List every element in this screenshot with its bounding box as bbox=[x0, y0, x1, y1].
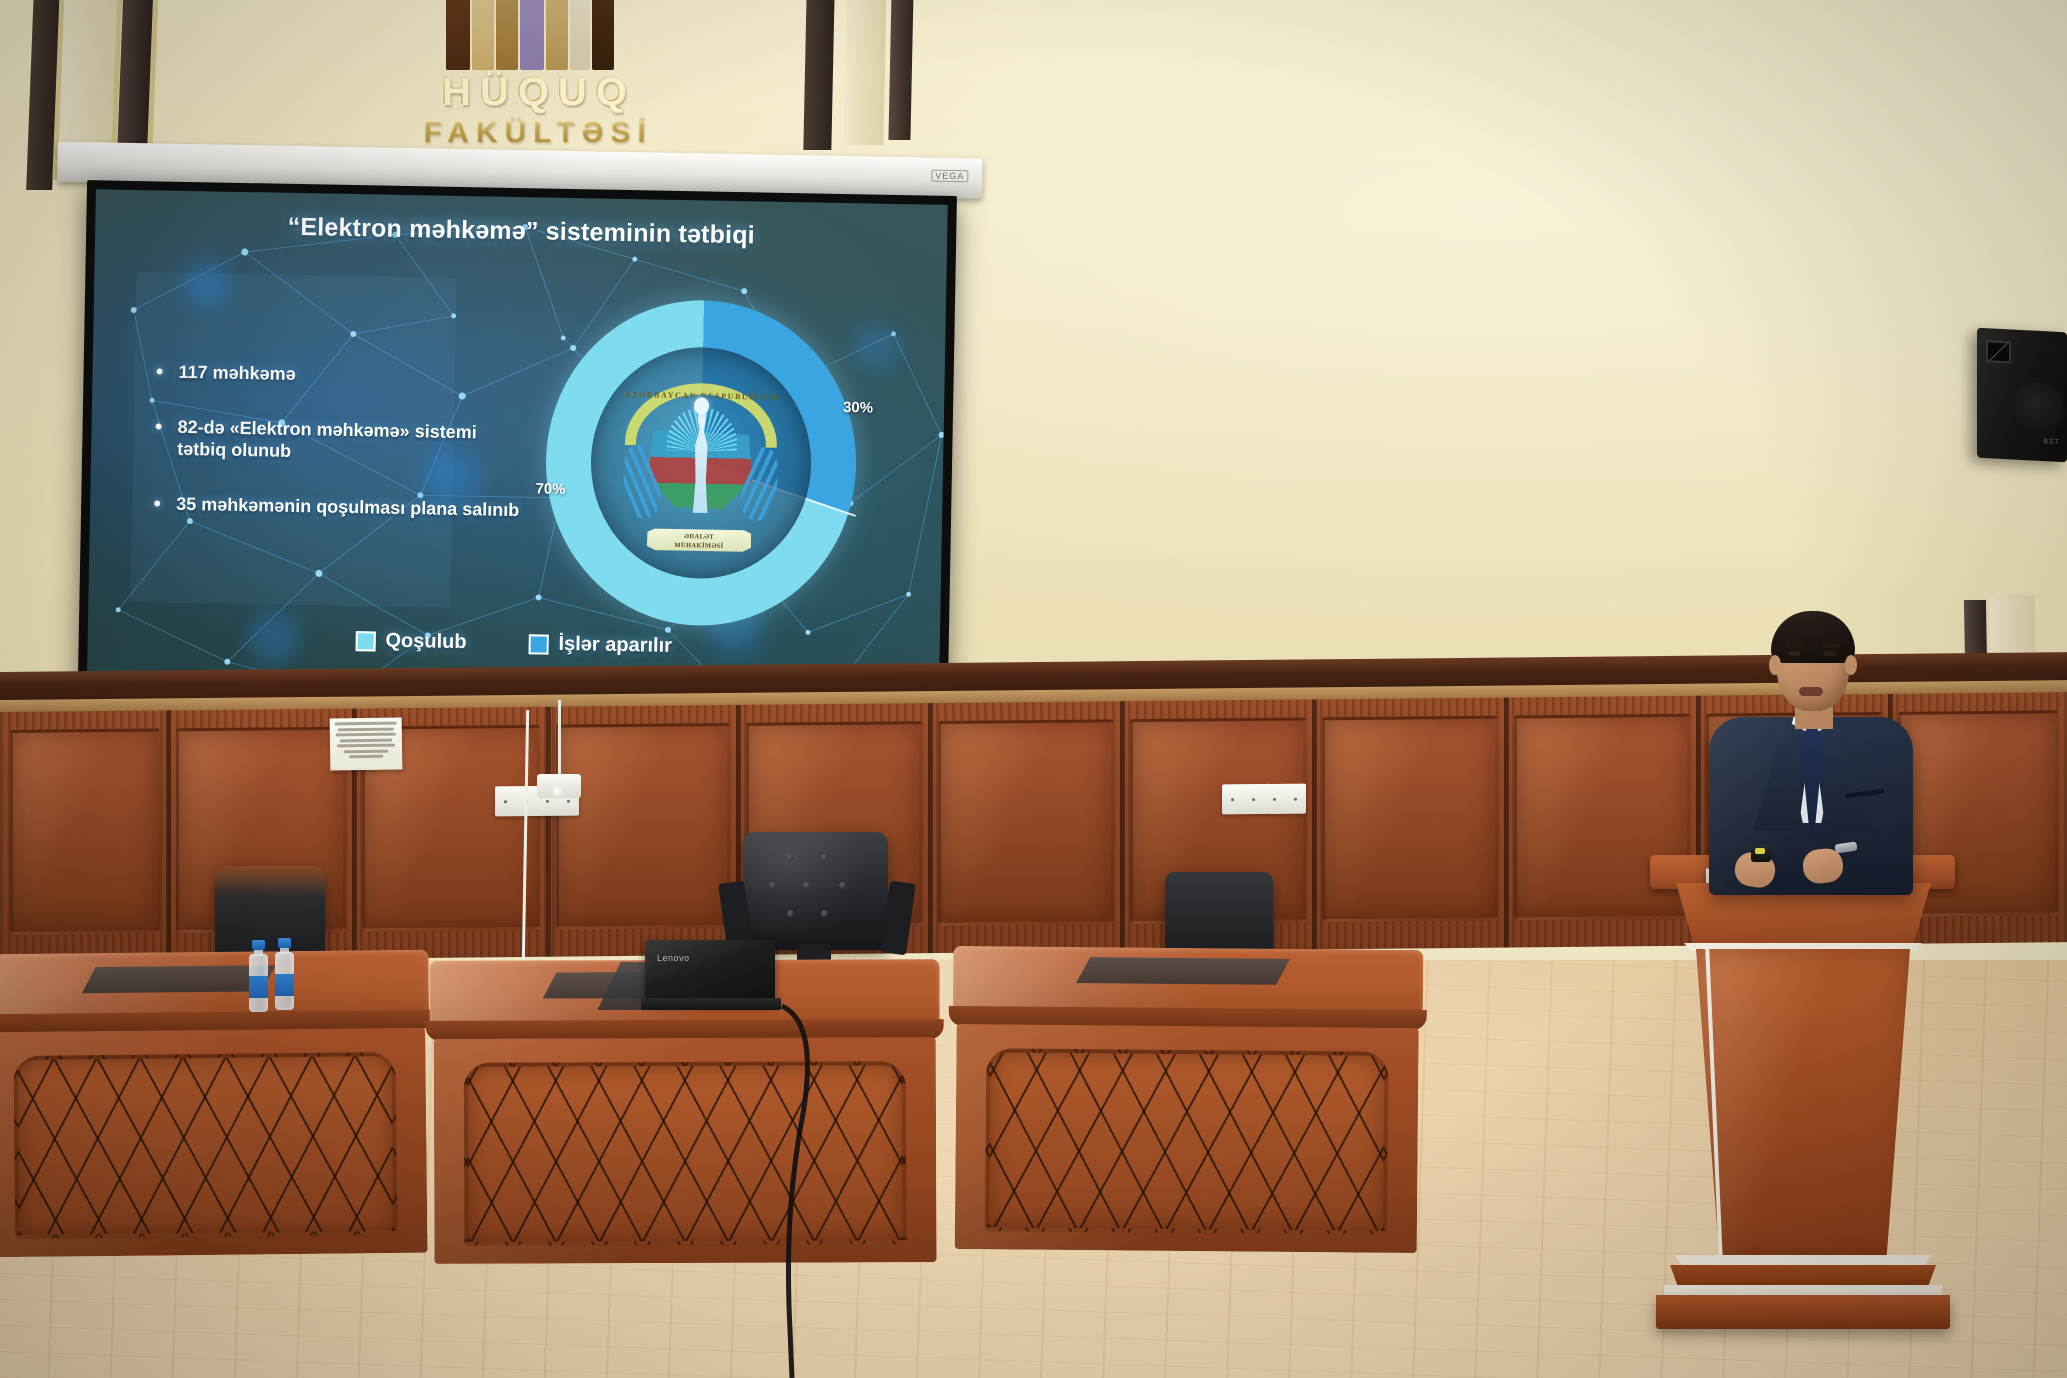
desk-center-front bbox=[434, 1037, 937, 1264]
wall-pilaster-dark-3 bbox=[803, 0, 834, 150]
legend-item-connected: Qoşulub bbox=[355, 629, 467, 654]
desk-right bbox=[951, 946, 1424, 1260]
emblem-banner: ƏDALƏT MÜHAKİMƏSİ bbox=[647, 528, 751, 552]
slide-bullet-3: 35 məhkəmənin qoşulması plana salınıb bbox=[150, 492, 520, 521]
donut-chart: AZƏRBAYCAN RESPUBLİKASI ƏDALƏT MÜHAKİMƏS… bbox=[543, 298, 859, 629]
laptop-brand-label: Lenovo bbox=[657, 953, 690, 963]
presenter-mouth bbox=[1799, 687, 1823, 696]
presenter-hair bbox=[1771, 611, 1855, 663]
drop-cord-knob[interactable] bbox=[552, 786, 565, 799]
wall-notice-sign bbox=[330, 717, 403, 770]
laptop-base bbox=[641, 998, 781, 1010]
speaker-podium bbox=[1660, 855, 1945, 1375]
logo-figure-icon bbox=[438, 0, 638, 70]
presenter-eye-left bbox=[1788, 651, 1800, 656]
conference-room-photo: HÜQUQ FAKÜLTƏSİ VEGA bbox=[0, 0, 2067, 1378]
faculty-name-line1: HÜQUQ bbox=[388, 70, 688, 112]
power-outlet-right[interactable] bbox=[1222, 784, 1306, 815]
speaker-brand-label: BST bbox=[2043, 438, 2060, 446]
water-bottle-1[interactable] bbox=[249, 940, 268, 1012]
desk-right-lattice-panel bbox=[985, 1048, 1389, 1235]
slide-bullet-2: 82-də «Elektron məhkəmə» sistemi tətbiq … bbox=[151, 415, 522, 467]
speaker-cone-icon bbox=[2013, 382, 2065, 437]
desk-center-lattice-panel bbox=[464, 1061, 907, 1246]
legend-label-connected: Qoşulub bbox=[385, 630, 467, 654]
presenter-ear-left bbox=[1769, 655, 1781, 675]
state-emblem-icon: AZƏRBAYCAN RESPUBLİKASI ƏDALƏT MÜHAKİMƏS… bbox=[617, 371, 785, 554]
desk-left-mat bbox=[82, 965, 276, 993]
wall-pilaster-light-2 bbox=[843, 0, 886, 145]
screen-brand-label: VEGA bbox=[931, 170, 968, 183]
emblem-banner-line2: MÜHAKİMƏSİ bbox=[647, 540, 751, 551]
presentation-clicker[interactable] bbox=[1751, 845, 1771, 862]
podium-base-band bbox=[1670, 1265, 1936, 1287]
presenter-eyebrow-left bbox=[1785, 643, 1804, 648]
faculty-wall-logo: HÜQUQ FAKÜLTƏSİ bbox=[388, 0, 688, 150]
slide-surface: “Elektron məhkəmə” sisteminin tətbiqi 11… bbox=[87, 189, 948, 697]
legend-swatch-connected bbox=[355, 631, 375, 651]
presenter-ear-right bbox=[1845, 655, 1857, 675]
presenter-eyebrow-right bbox=[1821, 643, 1840, 648]
legend-swatch-inprogress bbox=[528, 634, 548, 654]
presenter-eye-right bbox=[1824, 651, 1836, 656]
podium-shaft bbox=[1696, 949, 1910, 1259]
donut-value-label-2: 30% bbox=[843, 399, 873, 417]
speaker-port-icon bbox=[1986, 340, 2011, 363]
desk-left-lattice-panel bbox=[13, 1052, 397, 1239]
donut-value-label-1: 70% bbox=[535, 480, 565, 498]
legend-label-inprogress: İşlər aparılır bbox=[558, 633, 672, 658]
desk-left bbox=[0, 950, 432, 1265]
laptop-lid: Lenovo bbox=[645, 940, 775, 1002]
podium-base-plinth bbox=[1656, 1295, 1950, 1329]
projection-screen: VEGA bbox=[47, 180, 982, 747]
pa-speaker: BST bbox=[1977, 328, 2067, 463]
donut-center: AZƏRBAYCAN RESPUBLİKASI ƏDALƏT MÜHAKİMƏS… bbox=[589, 346, 813, 581]
presenter bbox=[1695, 605, 1925, 895]
wall-pilaster-dark-4 bbox=[888, 0, 913, 140]
legend-item-inprogress: İşlər aparılır bbox=[528, 632, 672, 658]
desk-right-front bbox=[955, 1024, 1419, 1253]
slide-bullet-list: 117 məhkəmə 82-də «Elektron məhkəmə» sis… bbox=[149, 360, 522, 553]
desk-right-mat bbox=[1076, 957, 1290, 985]
water-bottle-2[interactable] bbox=[275, 938, 294, 1010]
desk-left-front bbox=[0, 1028, 428, 1258]
faculty-name-line2: FAKÜLTƏSİ bbox=[388, 116, 688, 150]
screen-frame: “Elektron məhkəmə” sisteminin tətbiqi 11… bbox=[78, 180, 957, 706]
